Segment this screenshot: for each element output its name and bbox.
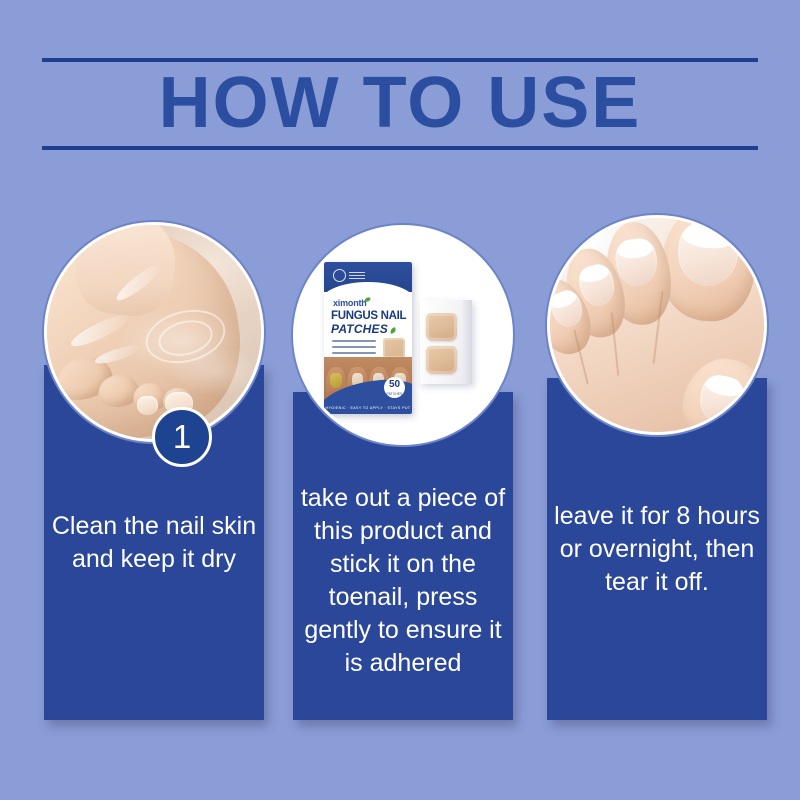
package-feature-lines: [332, 340, 376, 358]
package-title-line-2: PATCHES: [331, 322, 388, 336]
leaf-accent-icon: [389, 327, 396, 334]
patch-lower: [426, 346, 457, 374]
package-brand: ximonth: [333, 298, 370, 308]
package-patch-illustration: [383, 338, 405, 358]
step-1-photo: [44, 222, 264, 442]
how-to-use-infographic: HOW TO USE Clean the nail skin and keep …: [0, 0, 800, 800]
step-1-text: Clean the nail skin and keep it dry: [48, 510, 260, 576]
steps-container: Clean the nail skin and keep it dry: [0, 0, 800, 800]
package-count-number: 50: [389, 379, 400, 390]
product-box: ximonth FUNGUS NAIL PATCHES: [324, 262, 412, 414]
seal-ring-icon: [333, 269, 346, 282]
patch-sheet-stack: [420, 300, 472, 384]
healthy-toenails-photo: [550, 218, 764, 432]
package-title-line-1: FUNGUS NAIL: [331, 310, 406, 322]
seal-text-lines: [349, 272, 365, 280]
step-2-text: take out a piece of this product and sti…: [297, 482, 509, 680]
package-count-badge: 50 PATCHES: [384, 377, 405, 398]
package-footer-text: HYGIENIC · EASY TO APPLY · STAYS PUT: [324, 403, 412, 414]
foot-soaking-in-water-photo: [47, 225, 261, 439]
package-title: FUNGUS NAIL PATCHES: [331, 310, 407, 335]
fungus-nail-patches-product-package-photo: ximonth FUNGUS NAIL PATCHES: [296, 228, 510, 442]
step-3-text: leave it for 8 hours or overnight, then …: [551, 500, 763, 599]
patch-upper: [426, 313, 457, 341]
step-1-number-badge: 1: [152, 407, 212, 467]
package-brand-text: ximonth: [333, 298, 367, 308]
step-3-photo: [547, 215, 767, 435]
package-count-label: PATCHES: [384, 392, 405, 396]
package-seal-badge: [333, 268, 367, 283]
step-2-photo: ximonth FUNGUS NAIL PATCHES: [293, 225, 513, 445]
